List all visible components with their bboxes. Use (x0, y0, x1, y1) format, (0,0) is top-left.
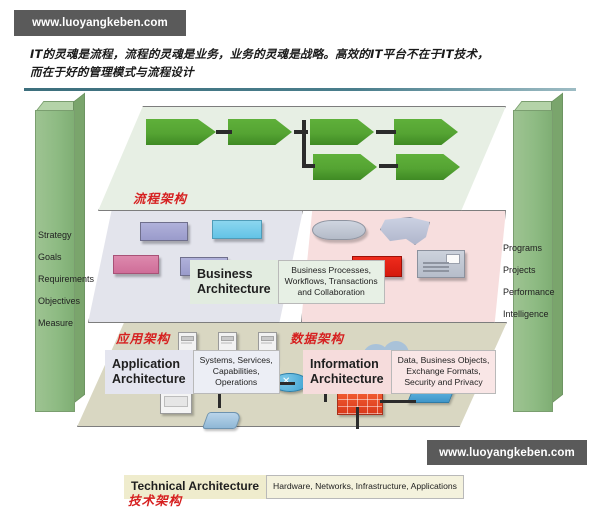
application-architecture-desc: Systems, Services, Capabilities, Operati… (193, 350, 280, 394)
business-title-line-2: Architecture (197, 282, 271, 296)
business-architecture-title: Business Architecture (190, 260, 278, 304)
enterprise-architecture-diagram: Strategy Goals Requirements Objectives M… (0, 92, 600, 437)
envelope-line-1 (423, 262, 449, 264)
firewall-icon (337, 392, 383, 415)
business-desc-line-3: and Collaboration (285, 287, 378, 298)
business-desc-line-2: Workflows, Transactions (285, 276, 378, 287)
application-desc-line-3: Operations (200, 377, 273, 388)
information-desc-line-1: Data, Business Objects, (398, 355, 490, 366)
pillar-right-item-2: Performance (503, 288, 555, 297)
header-divider (24, 88, 576, 91)
watermark-bottom: www.luoyangkeben.com (427, 440, 587, 465)
information-architecture-title: Information Architecture (303, 350, 391, 394)
envelope-line-3 (423, 270, 449, 272)
pillar-left-item-3: Objectives (38, 297, 94, 306)
information-desc-line-3: Security and Privacy (398, 377, 490, 388)
application-desc-line-1: Systems, Services, (200, 355, 273, 366)
pillar-left-item-2: Requirements (38, 275, 94, 284)
pillar-left-item-0: Strategy (38, 231, 94, 240)
information-title-line-1: Information (310, 357, 384, 371)
app-object-purple-1 (140, 222, 188, 241)
arrow-branch-vertical (302, 120, 306, 167)
arrow-connector-4 (379, 164, 398, 168)
business-architecture-label: Business Architecture Business Processes… (190, 260, 385, 304)
arrow-connector-3 (376, 130, 396, 134)
tech-firewall-to-switch (380, 400, 416, 403)
header-line-2: 而在于好的管理模式与流程设计 (30, 64, 575, 82)
pillar-right-item-3: Intelligence (503, 310, 555, 319)
watermark-top-text: www.luoyangkeben.com (32, 17, 168, 29)
business-desc-line-1: Business Processes, (285, 265, 378, 276)
pillar-right-item-0: Programs (503, 244, 555, 253)
application-desc-line-2: Capabilities, (200, 366, 273, 377)
information-desc-line-2: Exchange Formats, (398, 366, 490, 377)
watermark-top: www.luoyangkeben.com (14, 10, 186, 36)
cn-label-technical: 技术架构 (128, 490, 182, 509)
business-title-line-1: Business (197, 267, 271, 281)
arrow-connector-1 (216, 130, 232, 134)
technical-architecture-desc: Hardware, Networks, Infrastructure, Appl… (266, 475, 464, 499)
printer-icon (202, 412, 242, 429)
cn-label-business: 流程架构 (133, 188, 187, 207)
data-disc-icon (312, 220, 366, 240)
pillar-left-labels: Strategy Goals Requirements Objectives M… (38, 231, 94, 328)
information-architecture-label: Information Architecture Data, Business … (303, 350, 496, 394)
app-object-cyan (212, 220, 262, 239)
business-architecture-desc: Business Processes, Workflows, Transacti… (278, 260, 385, 304)
information-architecture-desc: Data, Business Objects, Exchange Formats… (391, 350, 497, 394)
app-object-pink (113, 255, 159, 274)
envelope-icon (417, 250, 465, 278)
header-line-1: IT的灵魂是流程，流程的灵魂是业务，业务的灵魂是战略。高效的IT平台不在于IT技… (30, 46, 575, 64)
application-title-line-2: Architecture (112, 372, 186, 386)
pillar-right-labels: Programs Projects Performance Intelligen… (503, 244, 555, 319)
pillar-right-item-1: Projects (503, 266, 555, 275)
pillar-left-item-1: Goals (38, 253, 94, 262)
application-architecture-title: Application Architecture (105, 350, 193, 394)
page-title: IT的灵魂是流程，流程的灵魂是业务，业务的灵魂是战略。高效的IT平台不在于IT技… (30, 46, 575, 82)
tech-firewall-drop (356, 407, 359, 429)
cn-label-information: 数据架构 (290, 328, 344, 347)
arrow-branch-lower (302, 164, 315, 168)
envelope-line-2 (423, 266, 449, 268)
application-title-line-1: Application (112, 357, 186, 371)
information-title-line-2: Architecture (310, 372, 384, 386)
cn-label-application: 应用架构 (116, 328, 170, 347)
watermark-bottom-text: www.luoyangkeben.com (439, 447, 575, 459)
application-architecture-label: Application Architecture Systems, Servic… (105, 350, 280, 394)
slide-page: www.luoyangkeben.com IT的灵魂是流程，流程的灵魂是业务，业… (0, 0, 600, 480)
